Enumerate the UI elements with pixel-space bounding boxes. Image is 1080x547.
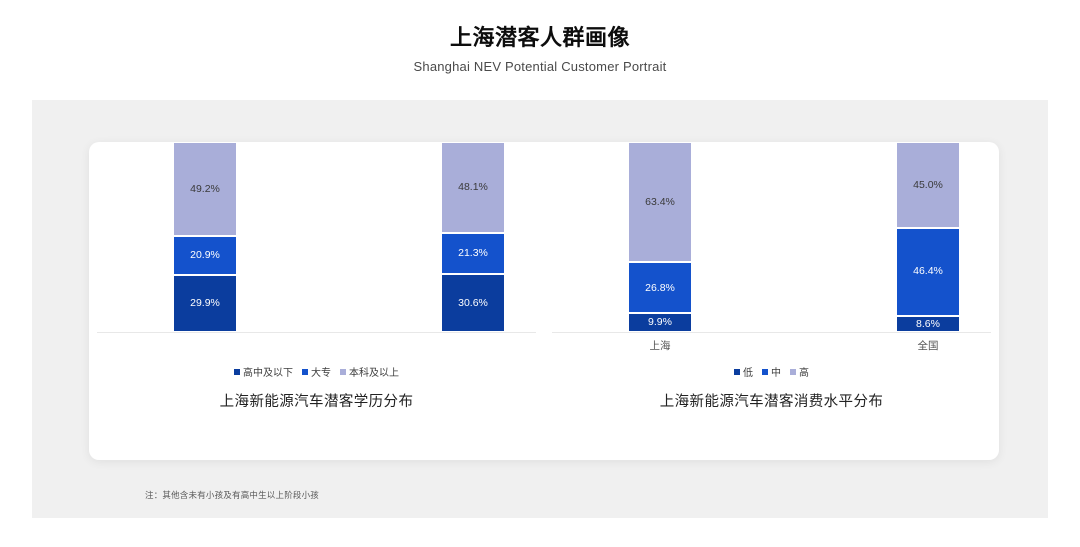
bar-segment-mid[interactable]: 21.3% — [441, 233, 505, 273]
bar-segment-mid[interactable]: 46.4% — [896, 228, 960, 316]
bar-segment-high[interactable]: 48.1% — [441, 142, 505, 233]
bar-segment-high[interactable]: 49.2% — [173, 142, 237, 235]
stacked-bar[interactable]: 48.1%21.3%30.6% — [441, 142, 505, 332]
legend-swatch-high — [790, 369, 796, 375]
bars-area: 63.4%26.8%9.9%45.0%46.4%8.6% — [590, 142, 975, 332]
chart-legend: 低中高 — [544, 364, 999, 379]
bar-segment-high[interactable]: 45.0% — [896, 142, 960, 228]
bar-segment-low[interactable]: 30.6% — [441, 274, 505, 332]
charts-card: 49.2%20.9%29.9%48.1%21.3%30.6%高中及以下大专本科及… — [89, 142, 999, 460]
chart-caption: 上海新能源汽车潜客消费水平分布 — [544, 390, 999, 411]
page-header: 上海潜客人群画像 Shanghai NEV Potential Customer… — [0, 0, 1080, 74]
chart-1: 49.2%20.9%29.9%48.1%21.3%30.6%高中及以下大专本科及… — [89, 142, 544, 460]
category-label: 上海 — [628, 338, 692, 353]
legend-item[interactable]: 中 — [762, 364, 781, 379]
legend-swatch-high — [340, 369, 346, 375]
bar-slot: 63.4%26.8%9.9% — [628, 142, 692, 332]
legend-item[interactable]: 高中及以下 — [234, 364, 293, 379]
chart-legend: 高中及以下大专本科及以上 — [89, 364, 544, 379]
page-subtitle: Shanghai NEV Potential Customer Portrait — [0, 59, 1080, 74]
bar-slot: 45.0%46.4%8.6% — [896, 142, 960, 332]
bar-segment-low[interactable]: 9.9% — [628, 313, 692, 332]
legend-item[interactable]: 低 — [734, 364, 753, 379]
category-labels: 上海全国 — [590, 338, 975, 354]
stacked-bar[interactable]: 63.4%26.8%9.9% — [628, 142, 692, 332]
legend-item[interactable]: 本科及以上 — [340, 364, 399, 379]
plot-area: 63.4%26.8%9.9%45.0%46.4%8.6% — [544, 142, 999, 332]
legend-label: 本科及以上 — [349, 364, 399, 379]
bar-slot: 49.2%20.9%29.9% — [173, 142, 237, 332]
x-axis-line — [552, 332, 991, 333]
x-axis-line — [97, 332, 536, 333]
legend-item[interactable]: 高 — [790, 364, 809, 379]
stacked-bar[interactable]: 45.0%46.4%8.6% — [896, 142, 960, 332]
legend-swatch-low — [234, 369, 240, 375]
content-panel: 49.2%20.9%29.9%48.1%21.3%30.6%高中及以下大专本科及… — [32, 100, 1048, 518]
category-label: 全国 — [896, 338, 960, 353]
chart-2: 63.4%26.8%9.9%45.0%46.4%8.6%上海全国低中高上海新能源… — [544, 142, 999, 460]
legend-item[interactable]: 大专 — [302, 364, 331, 379]
legend-swatch-mid — [762, 369, 768, 375]
bar-slot: 48.1%21.3%30.6% — [441, 142, 505, 332]
bar-segment-mid[interactable]: 20.9% — [173, 236, 237, 276]
legend-label: 低 — [743, 364, 753, 379]
bar-segment-low[interactable]: 29.9% — [173, 275, 237, 332]
legend-label: 中 — [771, 364, 781, 379]
legend-swatch-mid — [302, 369, 308, 375]
bar-segment-high[interactable]: 63.4% — [628, 142, 692, 262]
page-title: 上海潜客人群画像 — [0, 24, 1080, 52]
stacked-bar[interactable]: 49.2%20.9%29.9% — [173, 142, 237, 332]
legend-label: 大专 — [311, 364, 331, 379]
legend-swatch-low — [734, 369, 740, 375]
plot-area: 49.2%20.9%29.9%48.1%21.3%30.6% — [89, 142, 544, 332]
category-labels — [135, 338, 520, 354]
charts-container: 49.2%20.9%29.9%48.1%21.3%30.6%高中及以下大专本科及… — [89, 142, 999, 460]
legend-label: 高 — [799, 364, 809, 379]
legend-label: 高中及以下 — [243, 364, 293, 379]
chart-caption: 上海新能源汽车潜客学历分布 — [89, 390, 544, 411]
bars-area: 49.2%20.9%29.9%48.1%21.3%30.6% — [135, 142, 520, 332]
bar-segment-low[interactable]: 8.6% — [896, 316, 960, 332]
bar-segment-mid[interactable]: 26.8% — [628, 262, 692, 313]
footnote: 注：其他含未有小孩及有高中生以上阶段小孩 — [145, 489, 319, 501]
